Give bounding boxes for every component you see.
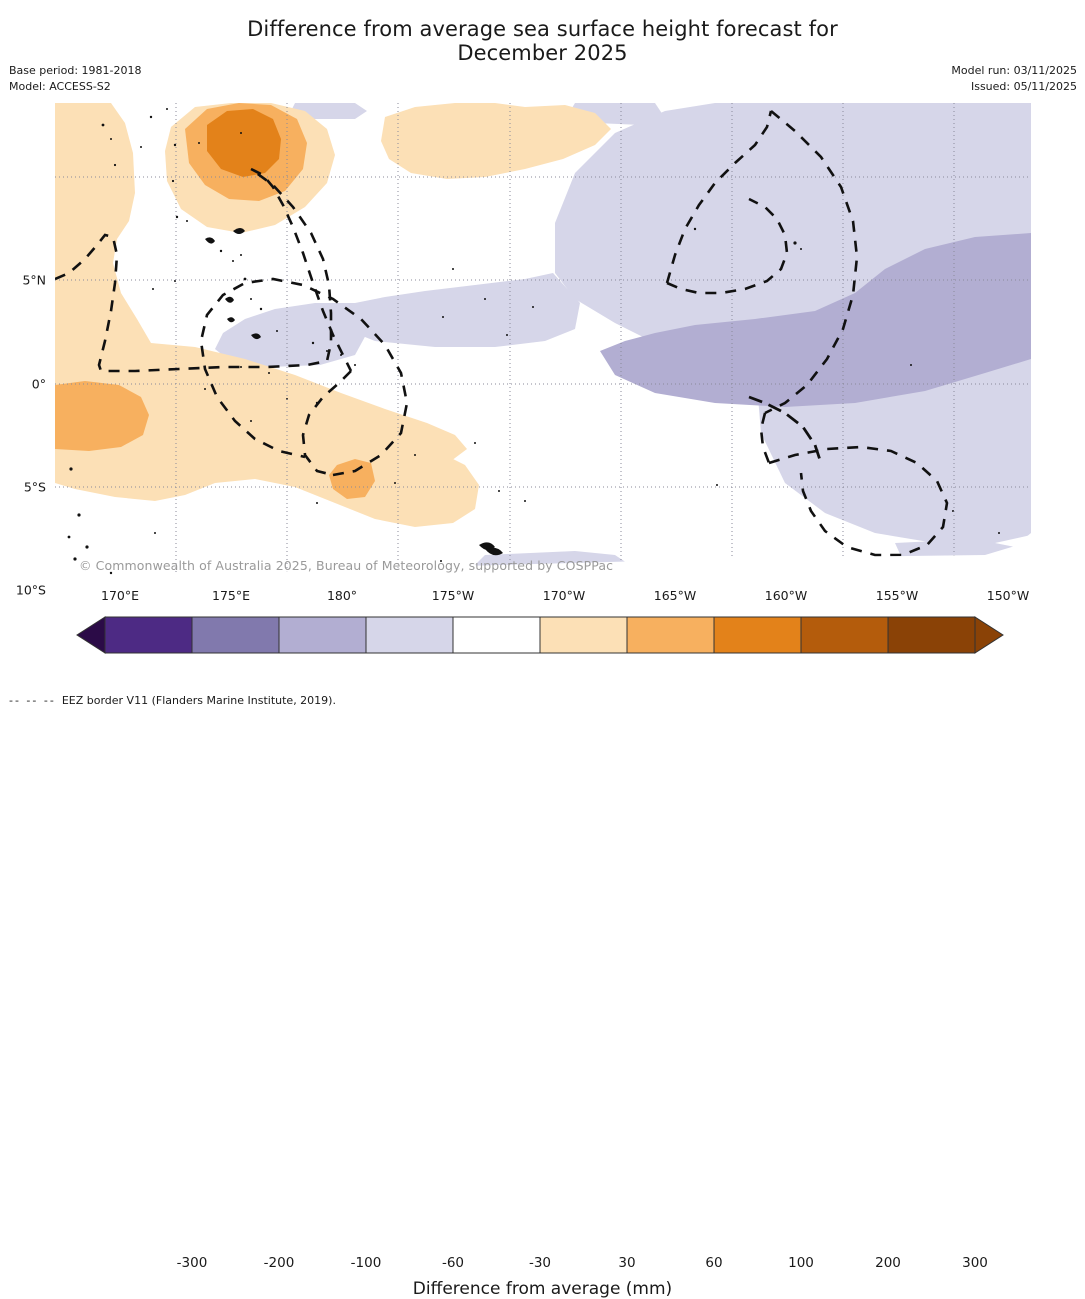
colorbar-title: Difference from average (mm): [0, 1279, 1085, 1299]
metadata-left: Base period: 1981-2018 Model: ACCESS-S2: [9, 63, 141, 95]
x-tick-label-175E: 175°E: [212, 588, 250, 603]
x-tick-label-155W: 155°W: [876, 588, 918, 603]
colorbar-tick-60: 60: [705, 1255, 722, 1271]
y-tick-label-5N: 5°N: [22, 273, 46, 288]
figure-root: Difference from average sea surface heig…: [0, 0, 1085, 713]
x-tick-label-170W: 170°W: [543, 588, 585, 603]
base-period-text: Base period: 1981-2018: [9, 63, 141, 79]
x-tick-label-165W: 165°W: [654, 588, 696, 603]
colorbar-bin-6: [627, 617, 714, 653]
colorbar: -300 -200 -100 -60 -30 30 60 100 200 300…: [0, 612, 1085, 672]
colorbar-tick--200: -200: [264, 1255, 295, 1271]
colorbar-bin-4: [453, 617, 540, 653]
metadata-right: Model run: 03/11/2025 Issued: 05/11/2025: [951, 63, 1077, 95]
colorbar-tick--100: -100: [351, 1255, 382, 1271]
eez-dash-sample-icon: -- -- --: [9, 694, 56, 707]
model-run-text: Model run: 03/11/2025: [951, 63, 1077, 79]
map-clip: [55, 103, 1031, 578]
colorbar-tick-300: 300: [962, 1255, 988, 1271]
colorbar-swatches: [0, 612, 1085, 662]
colorbar-bin-2: [279, 617, 366, 653]
colorbar-bin-5: [540, 617, 627, 653]
x-tick-label-180: 180°: [327, 588, 357, 603]
colorbar-tick-200: 200: [875, 1255, 901, 1271]
map-panel: © Commonwealth of Australia 2025, Bureau…: [55, 103, 1031, 578]
colorbar-tick-100: 100: [788, 1255, 814, 1271]
model-text: Model: ACCESS-S2: [9, 79, 141, 95]
footer-legend: -- -- -- EEZ border V11 (Flanders Marine…: [9, 694, 336, 707]
colorbar-bin-0: [105, 617, 192, 653]
title-line-1: Difference from average sea surface heig…: [0, 18, 1085, 42]
colorbar-bin-7: [714, 617, 801, 653]
y-tick-label-0: 0°: [32, 377, 46, 392]
x-tick-label-160W: 160°W: [765, 588, 807, 603]
x-tick-label-170E: 170°E: [101, 588, 139, 603]
footer-legend-text: EEZ border V11 (Flanders Marine Institut…: [62, 694, 336, 707]
colorbar-tick-30: 30: [618, 1255, 635, 1271]
page-title: Difference from average sea surface heig…: [0, 18, 1085, 65]
colorbar-bin-8: [801, 617, 888, 653]
colorbar-bin-9: [888, 617, 975, 653]
y-tick-label-5S: 5°S: [24, 480, 46, 495]
anomaly-map: [55, 103, 1031, 578]
colorbar-bin-1: [192, 617, 279, 653]
issued-text: Issued: 05/11/2025: [951, 79, 1077, 95]
title-line-2: December 2025: [0, 42, 1085, 66]
colorbar-tick--60: -60: [442, 1255, 464, 1271]
colorbar-tick--30: -30: [529, 1255, 551, 1271]
colorbar-bin-under-300: [77, 617, 105, 653]
y-tick-label-10S: 10°S: [16, 583, 46, 598]
x-tick-label-175W: 175°W: [432, 588, 474, 603]
colorbar-bin-3: [366, 617, 453, 653]
x-tick-label-150W: 150°W: [987, 588, 1029, 603]
colorbar-tick--300: -300: [177, 1255, 208, 1271]
colorbar-bin-over-300: [975, 617, 1003, 653]
